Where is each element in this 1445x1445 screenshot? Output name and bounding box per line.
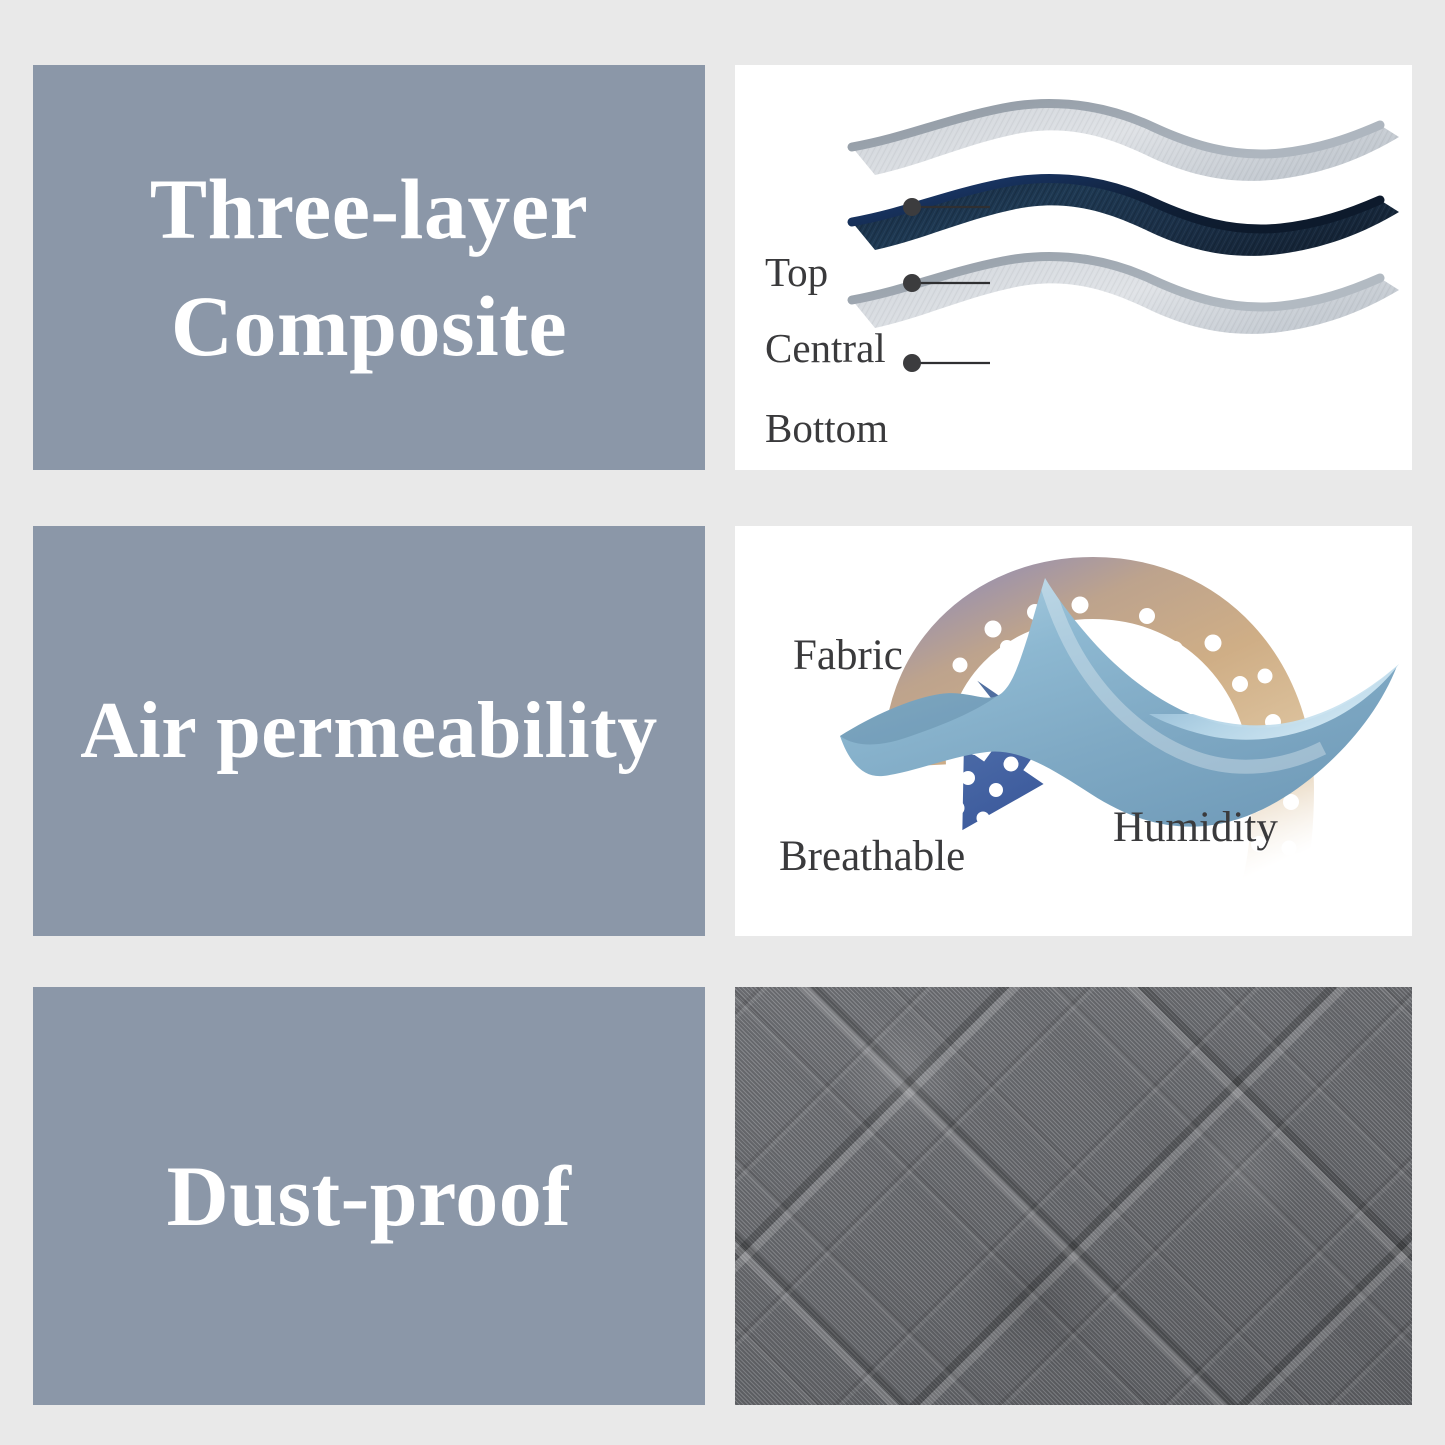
feature-headline-three-layer-composite: Three-layer Composite <box>150 151 589 385</box>
breathable-label: Breathable <box>779 832 965 881</box>
feature-headline-air-permeability: Air permeability <box>80 677 658 786</box>
breathability-diagram-stage: Fabric Breathable Humidity <box>735 526 1412 936</box>
feature-headline-dust-proof: Dust-proof <box>167 1138 572 1255</box>
layer-label-bottom: Bottom <box>765 404 888 452</box>
feature-panel-three-layer-composite: Three-layer Composite <box>33 65 705 470</box>
layer-diagram-stage: Top Central Bottom <box>735 65 1412 470</box>
feature-panel-dust-proof: Dust-proof <box>33 987 705 1405</box>
breathability-diagram-panel: Fabric Breathable Humidity <box>735 526 1412 936</box>
fabric-layer-top <box>852 104 1399 181</box>
layer-label-central: Central <box>765 324 886 372</box>
fabric-layer-central <box>852 179 1399 256</box>
quilted-fabric-swatch-panel <box>735 987 1412 1405</box>
layer-diagram-panel: Top Central Bottom <box>735 65 1412 470</box>
product-feature-infographic: Three-layer Composite <box>0 0 1445 1445</box>
fabric-layer-bottom <box>852 257 1399 334</box>
fabric-quilt-shading <box>735 987 1412 1405</box>
humidity-label: Humidity <box>1113 803 1278 852</box>
layer-label-top: Top <box>765 248 828 296</box>
fabric-label: Fabric <box>793 631 903 680</box>
feature-panel-air-permeability: Air permeability <box>33 526 705 936</box>
